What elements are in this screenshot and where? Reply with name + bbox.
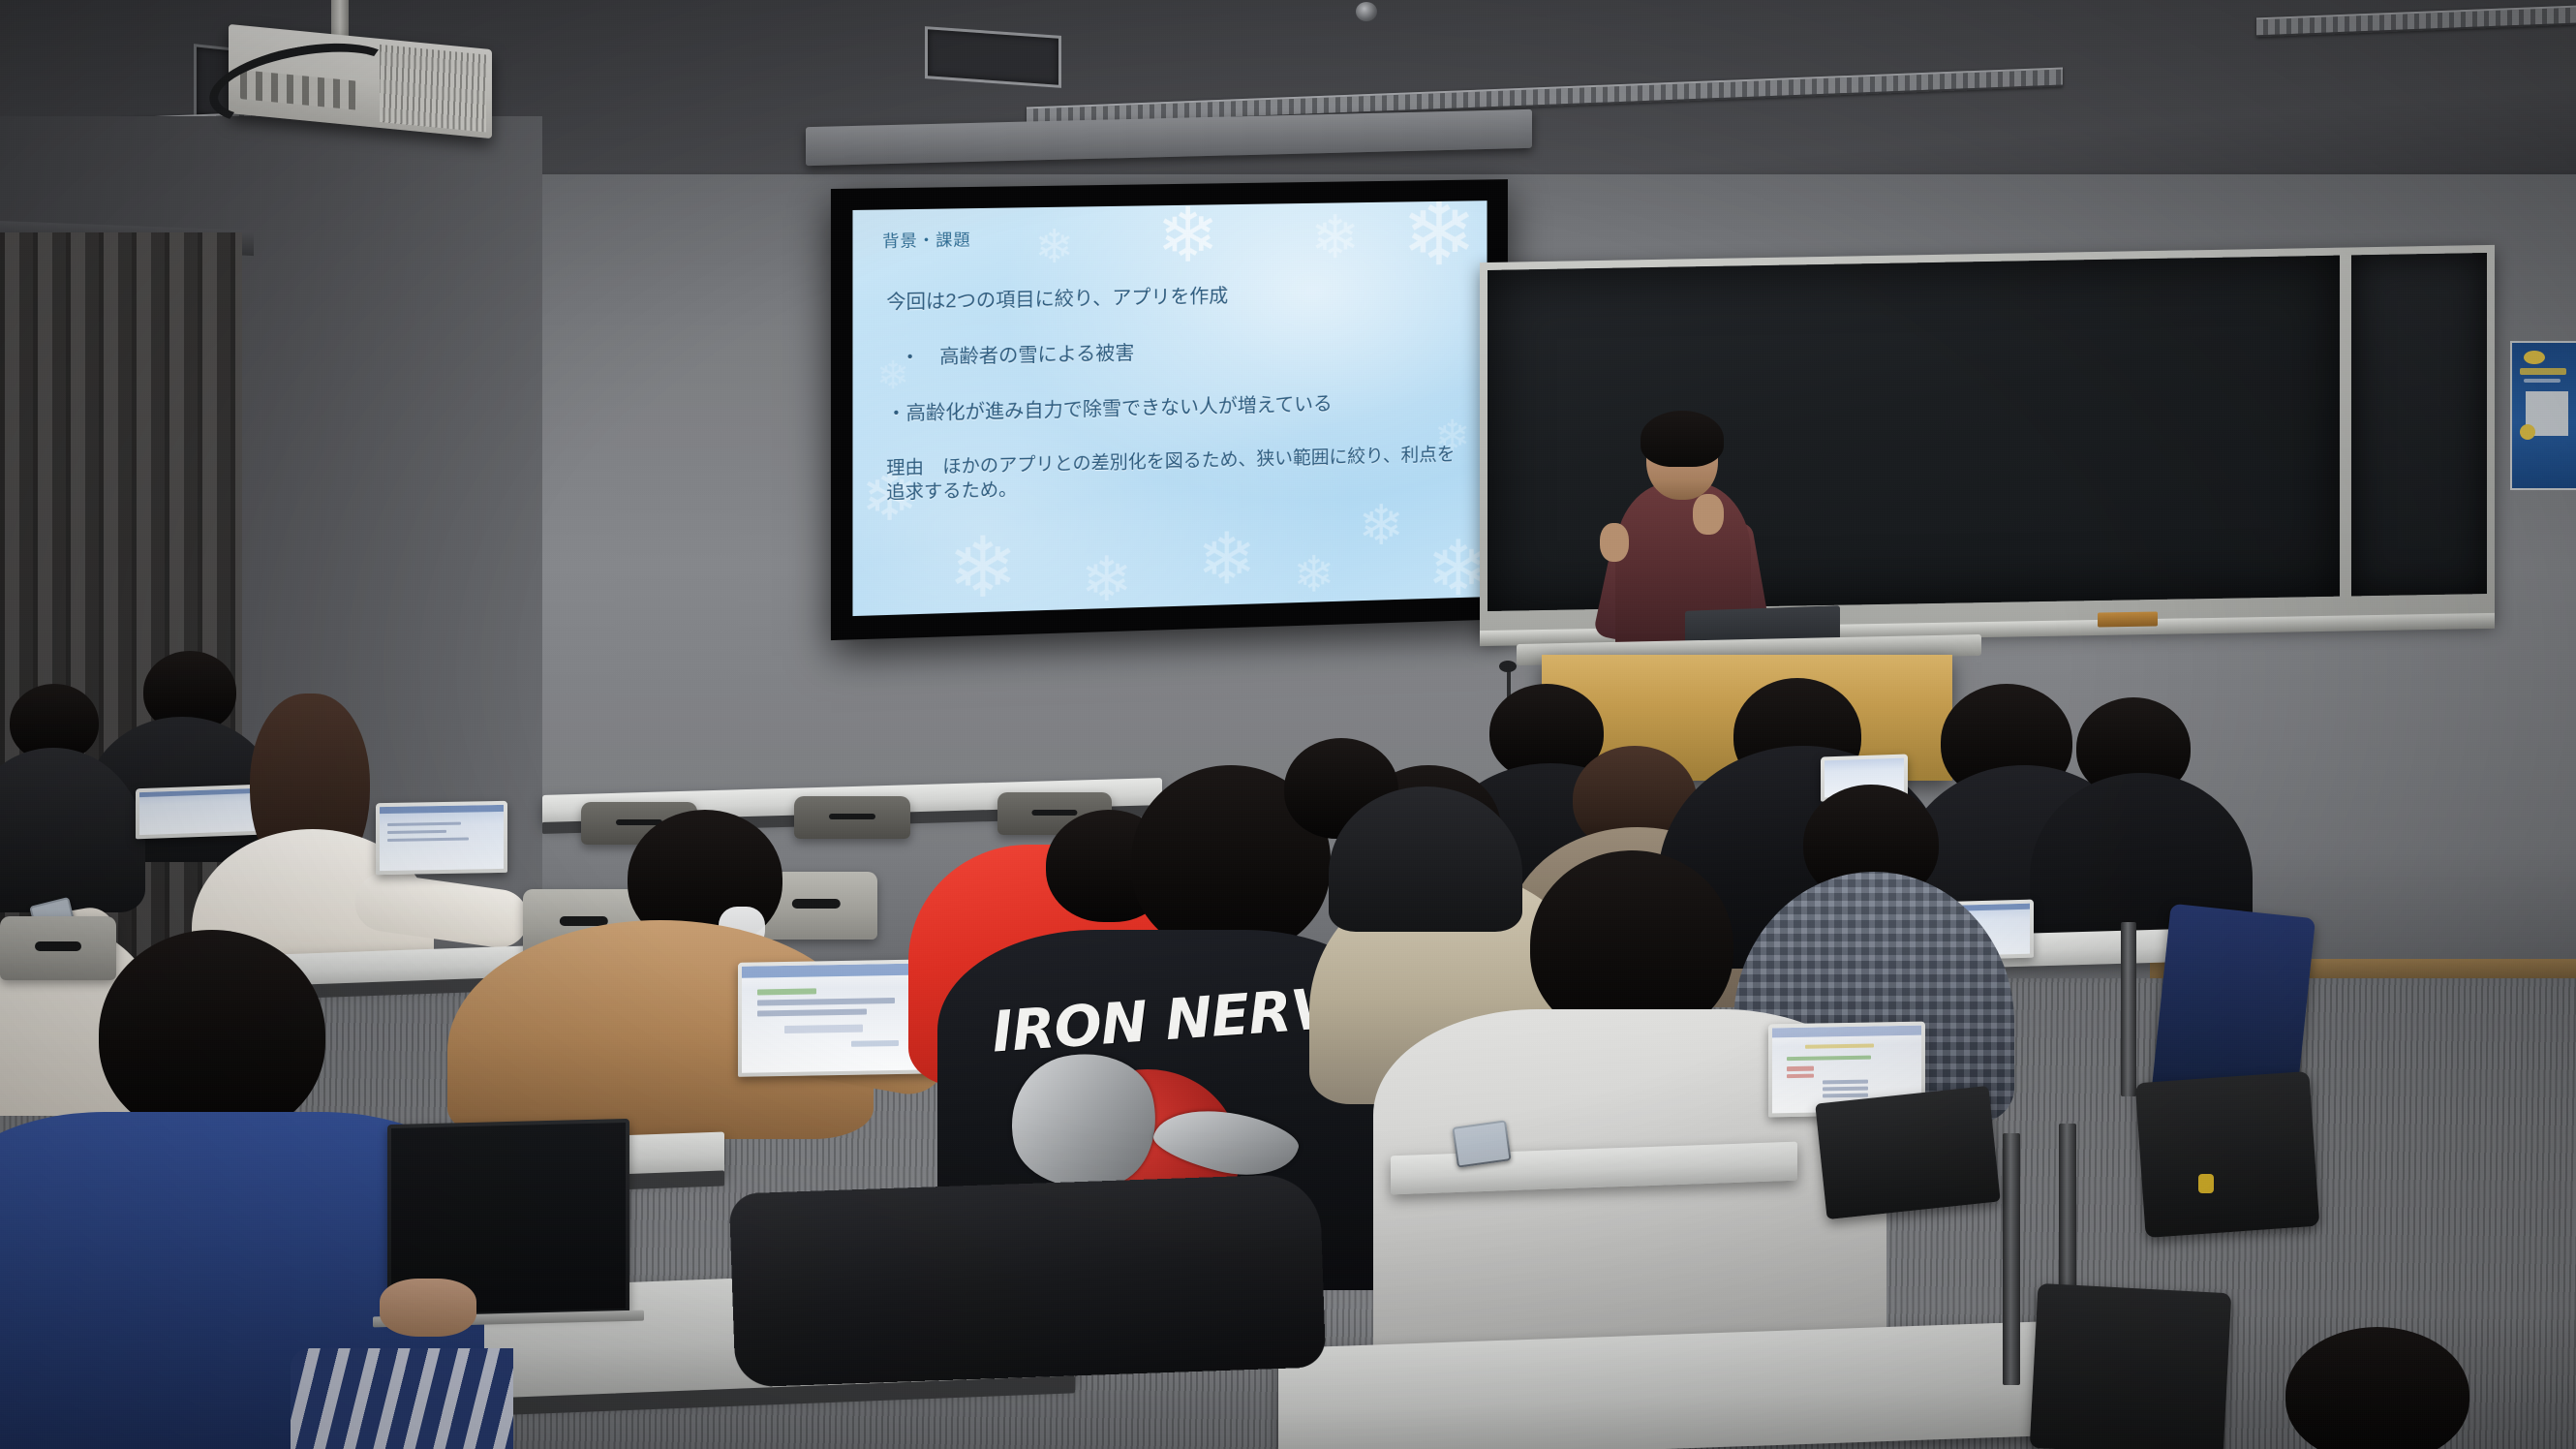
- snowflake-icon: ❄: [1426, 530, 1487, 608]
- poster-sun-icon: [2524, 351, 2545, 364]
- desk-leg-a: [2003, 1133, 2020, 1385]
- snowflake-icon: ❄: [1401, 200, 1478, 281]
- slide-title: 背景・課題: [882, 226, 971, 252]
- poster-headline: [2520, 368, 2566, 375]
- desk-leg-c: [2121, 922, 2136, 1096]
- wall-poster: [2510, 341, 2576, 490]
- laptop-rear-left[interactable]: [136, 785, 261, 840]
- projection-screen: ❄ ❄ ❄ ❄ ❄ ❄ ❄ ❄ ❄ ❄ ❄ ❄ ❄ 背景・課題 今回は2つの項目…: [831, 179, 1508, 640]
- snowflake-icon: ❄: [1293, 549, 1334, 601]
- projector-vents: [380, 45, 486, 133]
- snowflake-icon: ❄: [1081, 547, 1133, 611]
- laptop-white-top-student[interactable]: [376, 801, 507, 875]
- snowflake-icon: ❄: [1034, 225, 1074, 272]
- slide-body: 今回は2つの項目に絞り、アプリを作成 ・ 高齢者の雪による被害 ・高齢化が進み自…: [886, 280, 1464, 507]
- phone-device-on-desk[interactable]: [1452, 1120, 1511, 1167]
- presenter-right-hand: [1693, 494, 1724, 535]
- snowflake-icon: ❄: [1310, 208, 1360, 268]
- chalkboard-side-panel: [2351, 253, 2487, 596]
- ceiling-light-panel: [925, 26, 1061, 88]
- blue-hoodie-stripe: [291, 1348, 513, 1449]
- bag-under-desk[interactable]: [1815, 1086, 2001, 1219]
- poster-badge-icon: [2520, 424, 2535, 440]
- backpack-charm: [2198, 1174, 2214, 1193]
- draped-black-coat: [729, 1173, 1327, 1387]
- snowflake-icon: ❄: [1358, 498, 1404, 555]
- presenter-hair: [1641, 411, 1724, 467]
- backpack-black-lower[interactable]: [2030, 1283, 2232, 1449]
- chalkboard-eraser[interactable]: [2098, 611, 2158, 627]
- presenter-left-hand: [1600, 523, 1629, 562]
- slide-line-1: 今回は2つの項目に絞り、アプリを作成: [886, 280, 1464, 317]
- snowflake-icon: ❄: [1156, 200, 1219, 273]
- chair-row3-d[interactable]: [0, 916, 116, 980]
- poster-subline: [2524, 379, 2561, 383]
- snowflake-icon: ❄: [1197, 523, 1257, 597]
- lecture-hall-photo: ❄ ❄ ❄ ❄ ❄ ❄ ❄ ❄ ❄ ❄ ❄ ❄ ❄ 背景・課題 今回は2つの項目…: [0, 0, 2576, 1449]
- backpack-black-right[interactable]: [2135, 1071, 2320, 1238]
- microphone-icon: [1499, 661, 1517, 672]
- snowflake-icon: ❄: [947, 525, 1018, 611]
- presentation-slide: ❄ ❄ ❄ ❄ ❄ ❄ ❄ ❄ ❄ ❄ ❄ ❄ ❄ 背景・課題 今回は2つの項目…: [852, 200, 1487, 616]
- slide-line-2: ・ 高齢者の雪による被害: [900, 334, 1464, 372]
- chair-row4-b[interactable]: [794, 796, 910, 839]
- student-blue-hoodie-head: [99, 930, 325, 1139]
- sprinkler-head: [1356, 2, 1377, 21]
- slide-line-3: ・高齢化が進み自力で除雪できない人が増えている: [886, 388, 1464, 428]
- student-hand-on-laptop: [380, 1279, 476, 1337]
